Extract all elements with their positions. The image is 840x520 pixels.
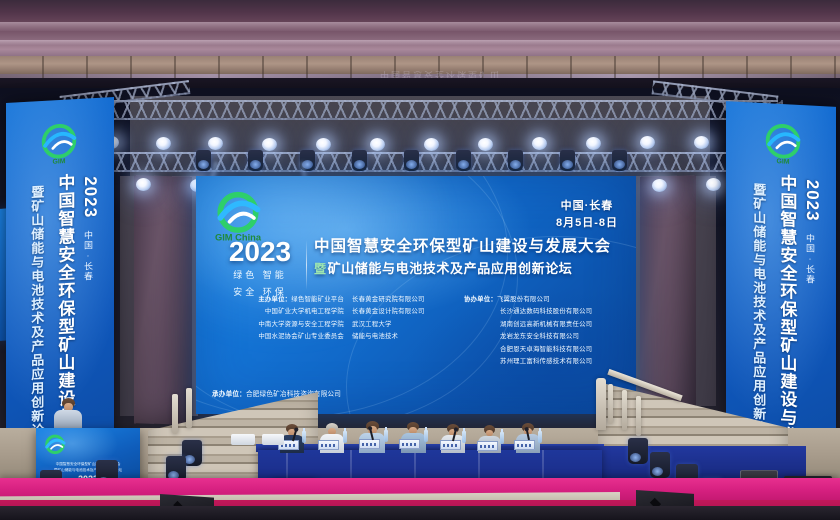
organizer-row: 协办单位：飞翼股份有限公司 xyxy=(464,294,614,306)
ceiling-light-band-lower xyxy=(0,40,840,45)
organizer-row: 中南大学资源与安全工程学院 xyxy=(212,319,344,331)
stage-lamp xyxy=(136,178,151,191)
moving-head-light xyxy=(248,150,263,171)
stage-wall-panel-left xyxy=(134,175,192,425)
organizer-row: 长春黄金设计院有限公司 xyxy=(352,306,456,318)
organizer-row: 中国矿业大学机电工程学院 xyxy=(212,306,344,318)
organizer-column-2: 长春黄金研究院有限公司 长春黄金设计院有限公司 武汉工程大学 储能与电池技术 xyxy=(352,294,456,369)
table-item xyxy=(231,434,255,445)
stage-lamp xyxy=(586,137,601,150)
organizer-row: 长沙通达数码科技股份有限公司 xyxy=(464,306,614,318)
organizer-column-1: 主办单位：绿色智能矿业平台 中国矿业大学机电工程学院 中南大学资源与安全工程学院… xyxy=(212,294,344,369)
lighting-truss-lower xyxy=(96,152,744,172)
led-organizers-block: 主办单位：绿色智能矿业平台 中国矿业大学机电工程学院 中南大学资源与安全工程学院… xyxy=(212,294,626,369)
banner-left-city: 中国·长春 xyxy=(82,230,95,282)
stage-lamp xyxy=(208,137,223,150)
organizer-row: 龙岩龙东安全科技有限公司 xyxy=(464,331,614,343)
baluster xyxy=(172,394,178,434)
water-bottle xyxy=(343,431,347,443)
table-item xyxy=(262,434,284,445)
front-floor-shadow xyxy=(0,506,840,520)
podium-title-line1: 中国智慧安全环保型矿山建设与发展大会 xyxy=(39,462,137,468)
organizer-value: 合肥绿色矿冶科技咨询有限公司 xyxy=(246,391,341,398)
moving-head-light xyxy=(404,150,419,171)
name-card xyxy=(440,440,461,450)
stage-lamp xyxy=(652,179,667,192)
gim-china-logo: GIM xyxy=(36,121,82,170)
banner-right-year: 2023 xyxy=(802,179,822,222)
water-bottle xyxy=(424,430,428,442)
led-title-block: 中国智慧安全环保型矿山建设与发展大会 暨矿山储能与电池技术及产品应用创新论坛 xyxy=(314,238,624,276)
led-title-divider xyxy=(306,240,307,290)
moving-head-light xyxy=(456,150,471,171)
led-city-line: 中国·长春 xyxy=(556,198,618,215)
svg-text:GIM: GIM xyxy=(52,158,65,166)
led-slogan-line1: 绿色 智能 xyxy=(218,269,302,283)
stage-lamp xyxy=(694,136,709,149)
cohost-label: 协办单位： xyxy=(464,296,497,303)
banner-right-city: 中国·长春 xyxy=(804,233,817,285)
moving-head-light xyxy=(352,150,367,171)
organizer-row: 主办单位：绿色智能矿业平台 xyxy=(212,294,344,306)
moving-head-light xyxy=(196,150,211,171)
led-date-line: 8月5日-8日 xyxy=(556,215,618,232)
name-card xyxy=(477,441,498,451)
newel-post xyxy=(596,378,606,430)
stage-lamp xyxy=(640,136,655,149)
led-city-date-block: 中国·长春 8月5日-8日 xyxy=(556,198,618,232)
stage-lamp xyxy=(478,138,493,151)
water-bottle xyxy=(500,432,504,444)
floor-moving-head-light xyxy=(650,452,670,478)
organizer-row: 长春黄金研究院有限公司 xyxy=(352,294,456,306)
stage-lamp xyxy=(156,137,171,150)
moving-head-light xyxy=(508,150,523,171)
ceiling-light-band-upper xyxy=(0,22,840,31)
lighting-truss-upper xyxy=(60,100,778,120)
organizer-row: 中国水泥协会矿山专业委员会 xyxy=(212,331,344,343)
led-year: 2023 xyxy=(218,238,302,266)
main-led-screen: GIM China 中国·长春 8月5日-8日 2023 绿色 智能 安全 环保… xyxy=(196,176,636,414)
host-label: 主办单位： xyxy=(258,296,291,303)
stage-lamp xyxy=(424,138,439,151)
auditorium-ceiling: 中国智慧安全环保型矿山 xyxy=(0,0,840,88)
organizer-column-3: 协办单位：飞翼股份有限公司 长沙通达数码科技股份有限公司 湖南创远高新机械有限责… xyxy=(464,294,614,369)
water-bottle xyxy=(462,431,466,443)
organizer-row: 合肥恩天卓海智能科技有限公司 xyxy=(464,344,614,356)
organizer-name: 飞翼股份有限公司 xyxy=(497,296,550,303)
led-organizer-footer: 承办单位：合肥绿色矿冶科技咨询有限公司 xyxy=(212,388,341,398)
name-card xyxy=(399,439,420,449)
led-title-amp: 暨 xyxy=(314,262,327,276)
led-year-block: 2023 绿色 智能 安全 环保 xyxy=(218,238,302,299)
led-title-line1: 中国智慧安全环保型矿山建设与发展大会 xyxy=(314,238,624,257)
stage-lamp xyxy=(370,138,385,151)
water-bottle xyxy=(302,431,306,443)
led-title-line2: 矿山储能与电池技术及产品应用创新论坛 xyxy=(328,261,573,276)
stage-lamp xyxy=(706,178,721,191)
water-bottle xyxy=(384,430,388,442)
organizer-label: 承办单位： xyxy=(212,391,246,398)
baluster xyxy=(622,390,627,430)
speaker-at-podium xyxy=(52,398,86,430)
floor-moving-head-light xyxy=(628,438,648,464)
svg-text:GIM: GIM xyxy=(776,158,789,166)
organizer-row: 苏州理工富科传感技术有限公司 xyxy=(464,356,614,368)
name-card xyxy=(318,440,339,450)
organizer-name: 绿色智能矿业平台 xyxy=(291,296,344,303)
stage-lamp xyxy=(532,137,547,150)
name-card xyxy=(514,440,535,450)
gim-china-logo: GIM xyxy=(760,121,806,169)
water-bottle xyxy=(538,431,542,443)
banner-left-year: 2023 xyxy=(80,176,100,219)
baluster xyxy=(636,396,641,436)
organizer-row: 武汉工程大学 xyxy=(352,319,456,331)
name-card xyxy=(359,439,380,449)
baluster xyxy=(186,388,192,428)
led-title-line2-wrapper: 暨矿山储能与电池技术及产品应用创新论坛 xyxy=(314,261,624,277)
organizer-row: 储能与电池技术 xyxy=(352,331,456,343)
moving-head-light xyxy=(612,150,627,171)
stage-lamp xyxy=(262,138,277,151)
baluster xyxy=(608,384,613,424)
organizer-row: 湖南创远高新机械有限责任公司 xyxy=(464,319,614,331)
conference-stage-scene: 中国智慧安全环保型矿山 xyxy=(0,0,840,520)
moving-head-light xyxy=(560,150,575,171)
gim-china-logo xyxy=(42,434,68,460)
stage-lamp xyxy=(316,138,331,151)
